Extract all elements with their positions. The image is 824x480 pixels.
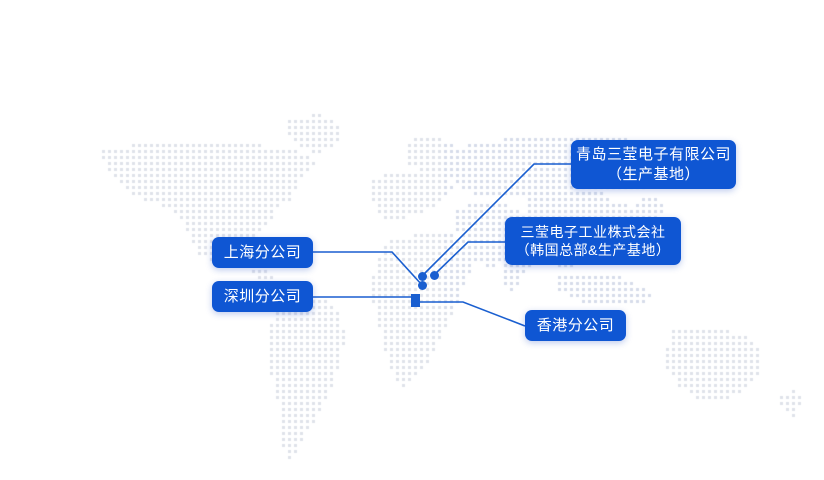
label-korea-line2: （韩国总部&生产基地） — [516, 241, 671, 259]
label-shenzhen[interactable]: 深圳分公司 — [212, 281, 313, 312]
hongkong-link — [417, 302, 525, 326]
shenzhen-pin[interactable] — [411, 294, 420, 307]
qingdao-pin[interactable] — [418, 272, 427, 281]
label-korea-line1: 三莹电子工业株式会社 — [521, 223, 666, 241]
label-hongkong[interactable]: 香港分公司 — [525, 310, 626, 341]
korea-link — [434, 242, 505, 275]
connector-lines — [0, 0, 824, 480]
label-shanghai-line1: 上海分公司 — [224, 243, 302, 263]
korea-pin[interactable] — [430, 271, 439, 280]
label-qingdao-line1: 青岛三莹电子有限公司 — [576, 145, 731, 165]
label-hongkong-line1: 香港分公司 — [537, 316, 615, 336]
shanghai-link — [313, 252, 422, 285]
label-qingdao[interactable]: 青岛三莹电子有限公司 （生产基地） — [571, 140, 736, 189]
label-qingdao-line2: （生产基地） — [607, 165, 700, 185]
label-korea-hq[interactable]: 三莹电子工业株式会社 （韩国总部&生产基地） — [505, 217, 681, 265]
label-shenzhen-line1: 深圳分公司 — [224, 287, 302, 307]
shanghai-pin[interactable] — [418, 281, 427, 290]
world-map-infographic: 青岛三莹电子有限公司 （生产基地） 三莹电子工业株式会社 （韩国总部&生产基地）… — [0, 0, 824, 480]
label-shanghai[interactable]: 上海分公司 — [212, 237, 313, 268]
